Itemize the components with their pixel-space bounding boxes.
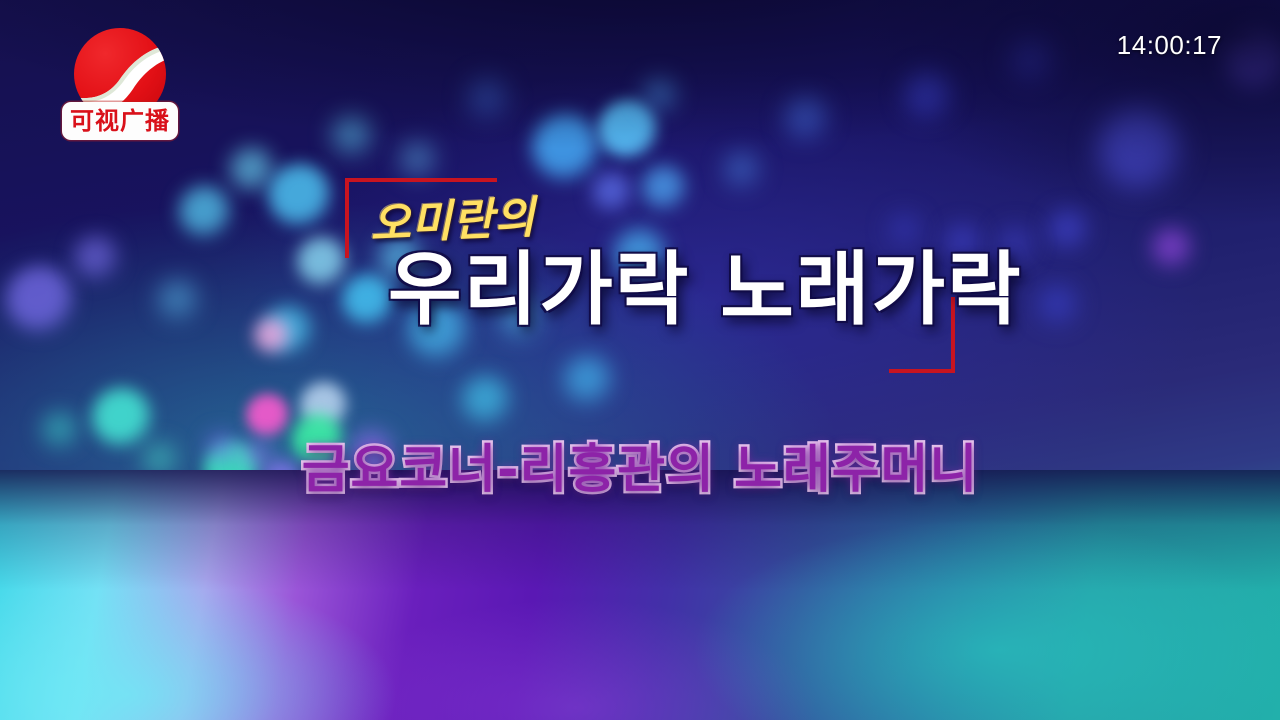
program-title: 우리가락 노래가락 (388, 250, 1023, 330)
program-segment-subtitle: 금요코너-리홍관의 노래주머니 (0, 444, 1280, 496)
logo-badge: 可视广播 (62, 102, 178, 140)
clock-display: 14:00:17 (1117, 30, 1222, 61)
program-host-line: 오미란의 (369, 196, 537, 247)
background-bottom-band (0, 470, 1280, 720)
broadcast-screen: 可视广播 14:00:17 오미란의 우리가락 노래가락 금요코너-리홍관의 노… (0, 0, 1280, 720)
channel-logo: 可视广播 (62, 28, 178, 144)
program-title-block: 오미란의 우리가락 노래가락 (340, 178, 940, 378)
logo-badge-text: 可视广播 (70, 109, 170, 133)
